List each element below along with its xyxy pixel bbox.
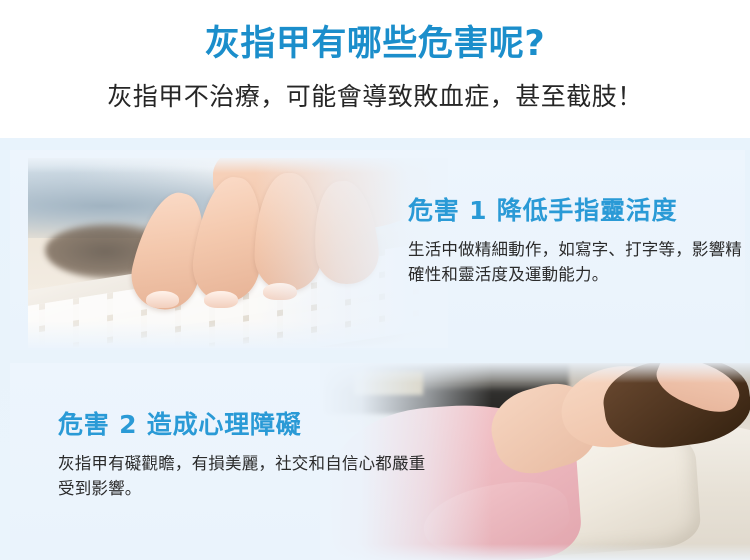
promo-page: 灰指甲有哪些危害呢? 灰指甲不治療，可能會導致敗血症，甚至截肢！	[0, 0, 750, 560]
header-banner: 灰指甲有哪些危害呢? 灰指甲不治療，可能會導致敗血症，甚至截肢！	[0, 0, 750, 138]
harm-card-1-heading: 危害 1 降低手指靈活度	[408, 197, 745, 226]
page-title: 灰指甲有哪些危害呢?	[0, 24, 750, 64]
harm-card-1-body: 生活中做精細動作，如寫字、打字等，影響精確性和靈活度及運動能力。	[408, 237, 745, 287]
harm-card-2-text: 危害 2 造成心理障礙 灰指甲有礙觀瞻，有損美麗，社交和自信心都嚴重受到影響。	[58, 411, 438, 501]
page-subtitle: 灰指甲不治療，可能會導致敗血症，甚至截肢！	[0, 82, 750, 112]
content-section: 危害 1 降低手指靈活度 生活中做精細動作，如寫字、打字等，影響精確性和靈活度及…	[0, 138, 750, 560]
harm-card-1: 危害 1 降低手指靈活度 生活中做精細動作，如寫字、打字等，影響精確性和靈活度及…	[10, 150, 745, 350]
harm-card-2: 危害 2 造成心理障礙 灰指甲有礙觀瞻，有損美麗，社交和自信心都嚴重受到影響。	[10, 363, 750, 560]
hand-typing-on-laptop-keyboard-photo	[28, 158, 448, 348]
harm-card-2-heading: 危害 2 造成心理障礙	[58, 411, 438, 440]
harm-card-2-body: 灰指甲有礙觀瞻，有損美麗，社交和自信心都嚴重受到影響。	[58, 451, 438, 501]
harm-card-1-text: 危害 1 降低手指靈活度 生活中做精細動作，如寫字、打字等，影響精確性和靈活度及…	[408, 197, 745, 287]
